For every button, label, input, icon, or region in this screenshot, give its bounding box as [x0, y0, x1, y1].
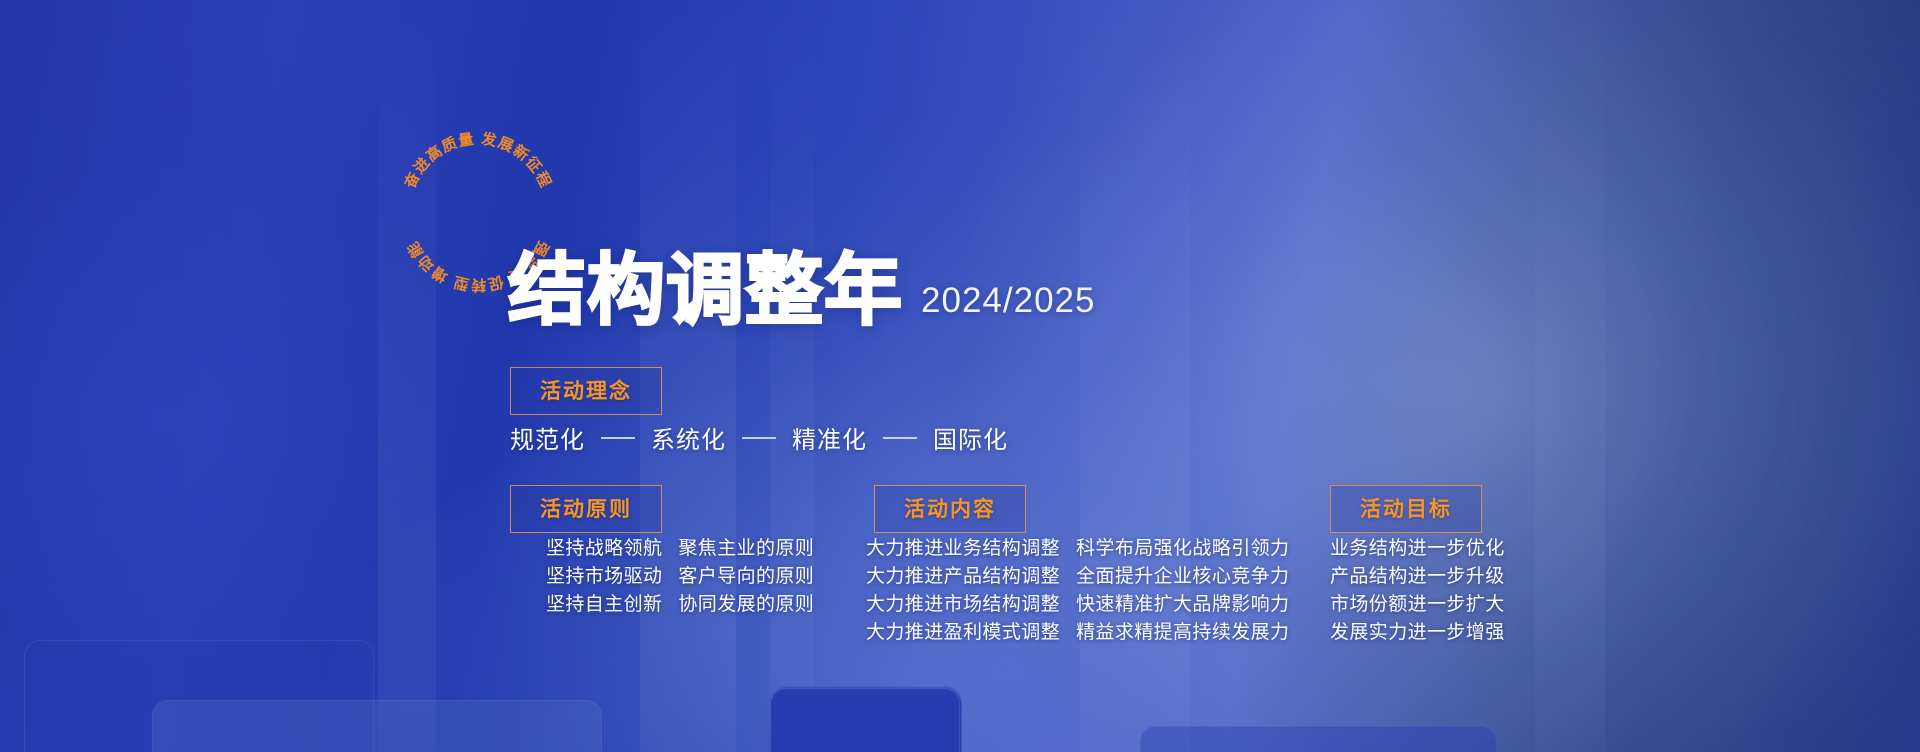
column-activity-principle: 坚持战略领航聚焦主业的原则坚持市场驱动客户导向的原则坚持自主创新协同发展的原则: [546, 535, 814, 619]
light-streak: [770, 0, 814, 752]
light-streak: [1535, 0, 1605, 752]
list-item-right: 客户导向的原则: [678, 563, 814, 590]
concept-item-1: 系统化: [651, 420, 726, 455]
dash-separator: [601, 437, 635, 439]
dash-separator: [742, 437, 776, 439]
promo-banner: 奋进高质量 发展新征程 强品质 促转型 增动能 结构调整年 2024/2025 …: [0, 0, 1920, 752]
concept-keywords: 规范化 系统化 精准化 国际化: [510, 420, 1008, 455]
block-left-front: [152, 700, 602, 752]
light-streak: [378, 0, 436, 752]
list-item-right: 聚焦主业的原则: [678, 535, 814, 562]
list-item-left: 大力推进业务结构调整: [866, 535, 1060, 562]
list-item-left: 市场份额进一步扩大: [1330, 591, 1505, 618]
list-item: 大力推进市场结构调整快速精准扩大品牌影响力: [866, 591, 1289, 618]
block-right: [1140, 726, 1497, 752]
list-item-right: 精益求精提高持续发展力: [1076, 619, 1289, 646]
list-item-left: 坚持市场驱动: [546, 563, 662, 590]
list-item: 大力推进产品结构调整全面提升企业核心竞争力: [866, 563, 1289, 590]
list-item-left: 发展实力进一步增强: [1330, 619, 1505, 646]
list-item: 大力推进业务结构调整科学布局强化战略引领力: [866, 535, 1289, 562]
year-label: 2024/2025: [921, 281, 1095, 330]
column-activity-content: 大力推进业务结构调整科学布局强化战略引领力大力推进产品结构调整全面提升企业核心竞…: [866, 535, 1289, 647]
list-item-right: 快速精准扩大品牌影响力: [1076, 591, 1289, 618]
block-center-visible: [770, 688, 960, 752]
list-item-left: 大力推进盈利模式调整: [866, 619, 1060, 646]
ring-text-top: 奋进高质量 发展新征程: [400, 130, 554, 192]
list-item: 市场份额进一步扩大: [1330, 591, 1505, 618]
list-item-left: 坚持战略领航: [546, 535, 662, 562]
list-item: 坚持市场驱动客户导向的原则: [546, 563, 814, 590]
list-item: 大力推进盈利模式调整精益求精提高持续发展力: [866, 619, 1289, 646]
concept-item-3: 国际化: [933, 420, 1008, 455]
badge-activity-goal: 活动目标: [1330, 485, 1482, 533]
title-row: 结构调整年 2024/2025: [508, 252, 1095, 330]
list-item-right: 科学布局强化战略引领力: [1076, 535, 1289, 562]
list-item: 发展实力进一步增强: [1330, 619, 1505, 646]
list-item-left: 产品结构进一步升级: [1330, 563, 1505, 590]
concept-item-0: 规范化: [510, 420, 585, 455]
dash-separator: [883, 437, 917, 439]
list-item-left: 大力推进产品结构调整: [866, 563, 1060, 590]
list-item-left: 坚持自主创新: [546, 591, 662, 618]
badge-activity-content: 活动内容: [874, 485, 1026, 533]
list-item: 产品结构进一步升级: [1330, 563, 1505, 590]
list-item: 坚持战略领航聚焦主业的原则: [546, 535, 814, 562]
list-item-right: 全面提升企业核心竞争力: [1076, 563, 1289, 590]
list-item-left: 业务结构进一步优化: [1330, 535, 1505, 562]
badge-activity-principle: 活动原则: [510, 485, 662, 533]
list-item-left: 大力推进市场结构调整: [866, 591, 1060, 618]
badge-activity-concept: 活动理念: [510, 367, 662, 415]
column-activity-goal: 业务结构进一步优化产品结构进一步升级市场份额进一步扩大发展实力进一步增强: [1330, 535, 1505, 647]
list-item: 业务结构进一步优化: [1330, 535, 1505, 562]
page-title: 结构调整年: [508, 252, 903, 330]
concept-item-2: 精准化: [792, 420, 867, 455]
list-item: 坚持自主创新协同发展的原则: [546, 591, 814, 618]
list-item-right: 协同发展的原则: [678, 591, 814, 618]
